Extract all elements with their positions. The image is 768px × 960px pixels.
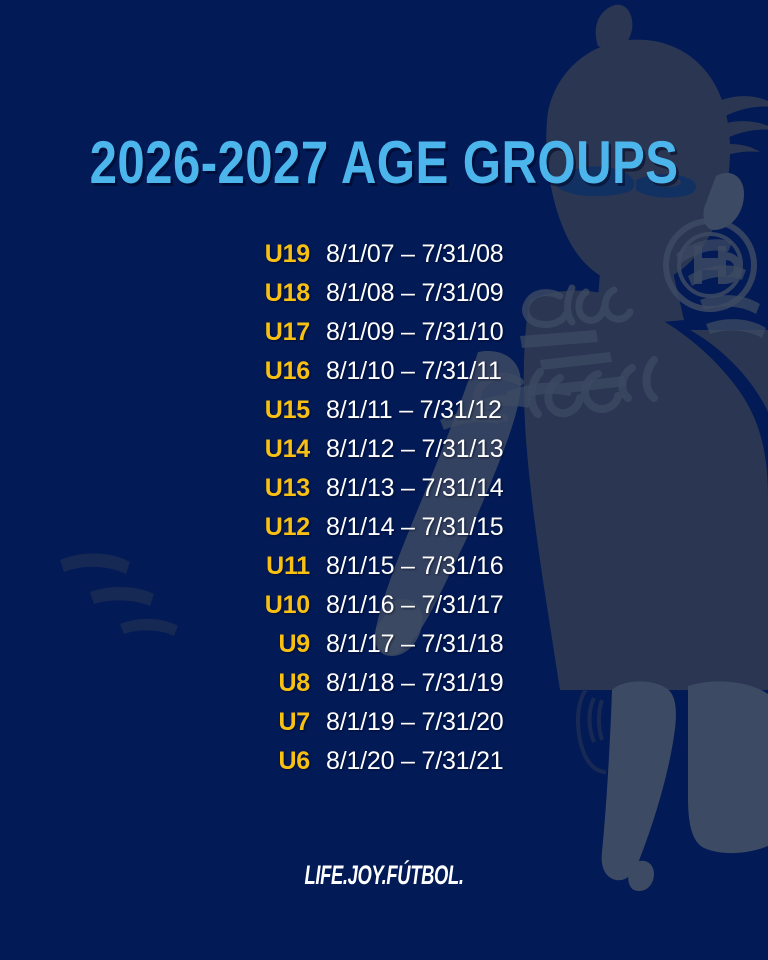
age-group-dates: 8/1/08 – 7/31/09 [326, 279, 504, 308]
footer-tagline: LIFE.JOY.FÚTBOL. [304, 860, 463, 891]
age-group-row-u9: U9 8/1/17 – 7/31/18 [0, 630, 768, 669]
age-group-label: U12 [242, 513, 310, 542]
age-group-dates: 8/1/15 – 7/31/16 [326, 552, 504, 581]
age-group-dates: 8/1/20 – 7/31/21 [326, 747, 504, 776]
age-group-label: U7 [242, 708, 310, 737]
age-group-row-u15: U15 8/1/11 – 7/31/12 [0, 396, 768, 435]
age-group-label: U18 [242, 279, 310, 308]
age-group-row-u14: U14 8/1/12 – 7/31/13 [0, 435, 768, 474]
age-group-dates: 8/1/13 – 7/31/14 [326, 474, 504, 503]
page-title: 2026-2027 AGE GROUPS [90, 132, 679, 194]
age-group-row-u18: U18 8/1/08 – 7/31/09 [0, 279, 768, 318]
age-group-label: U16 [242, 357, 310, 386]
player-hair-shape [596, 5, 633, 52]
age-group-dates: 8/1/10 – 7/31/11 [326, 357, 502, 386]
age-group-label: U10 [242, 591, 310, 620]
age-groups-list: U19 8/1/07 – 7/31/08 U18 8/1/08 – 7/31/0… [0, 240, 768, 786]
player-hair-wisp-1 [712, 96, 768, 120]
age-group-label: U11 [242, 552, 310, 581]
age-group-dates: 8/1/17 – 7/31/18 [326, 630, 504, 659]
age-group-row-u19: U19 8/1/07 – 7/31/08 [0, 240, 768, 279]
age-group-row-u11: U11 8/1/15 – 7/31/16 [0, 552, 768, 591]
age-group-dates: 8/1/18 – 7/31/19 [326, 669, 504, 698]
age-groups-poster: 2026-2027 AGE GROUPS U19 8/1/07 – 7/31/0… [0, 0, 768, 960]
page-title-container: 2026-2027 AGE GROUPS [0, 132, 768, 194]
footer-tagline-container: LIFE.JOY.FÚTBOL. [0, 860, 768, 891]
age-group-label: U14 [242, 435, 310, 464]
age-group-label: U19 [242, 240, 310, 269]
age-group-dates: 8/1/12 – 7/31/13 [326, 435, 504, 464]
age-group-label: U15 [242, 396, 310, 425]
age-group-label: U9 [242, 630, 310, 659]
age-group-dates: 8/1/14 – 7/31/15 [326, 513, 504, 542]
age-group-row-u10: U10 8/1/16 – 7/31/17 [0, 591, 768, 630]
age-group-dates: 8/1/19 – 7/31/20 [326, 708, 504, 737]
age-group-label: U6 [242, 747, 310, 776]
age-group-row-u7: U7 8/1/19 – 7/31/20 [0, 708, 768, 747]
age-group-label: U13 [242, 474, 310, 503]
age-group-dates: 8/1/16 – 7/31/17 [326, 591, 504, 620]
age-group-row-u17: U17 8/1/09 – 7/31/10 [0, 318, 768, 357]
age-group-dates: 8/1/07 – 7/31/08 [326, 240, 504, 269]
age-group-row-u8: U8 8/1/18 – 7/31/19 [0, 669, 768, 708]
age-group-label: U17 [242, 318, 310, 347]
age-group-row-u16: U16 8/1/10 – 7/31/11 [0, 357, 768, 396]
age-group-row-u6: U6 8/1/20 – 7/31/21 [0, 747, 768, 786]
age-group-row-u13: U13 8/1/13 – 7/31/14 [0, 474, 768, 513]
age-group-dates: 8/1/09 – 7/31/10 [326, 318, 504, 347]
age-group-label: U8 [242, 669, 310, 698]
age-group-dates: 8/1/11 – 7/31/12 [326, 396, 502, 425]
age-group-row-u12: U12 8/1/14 – 7/31/15 [0, 513, 768, 552]
